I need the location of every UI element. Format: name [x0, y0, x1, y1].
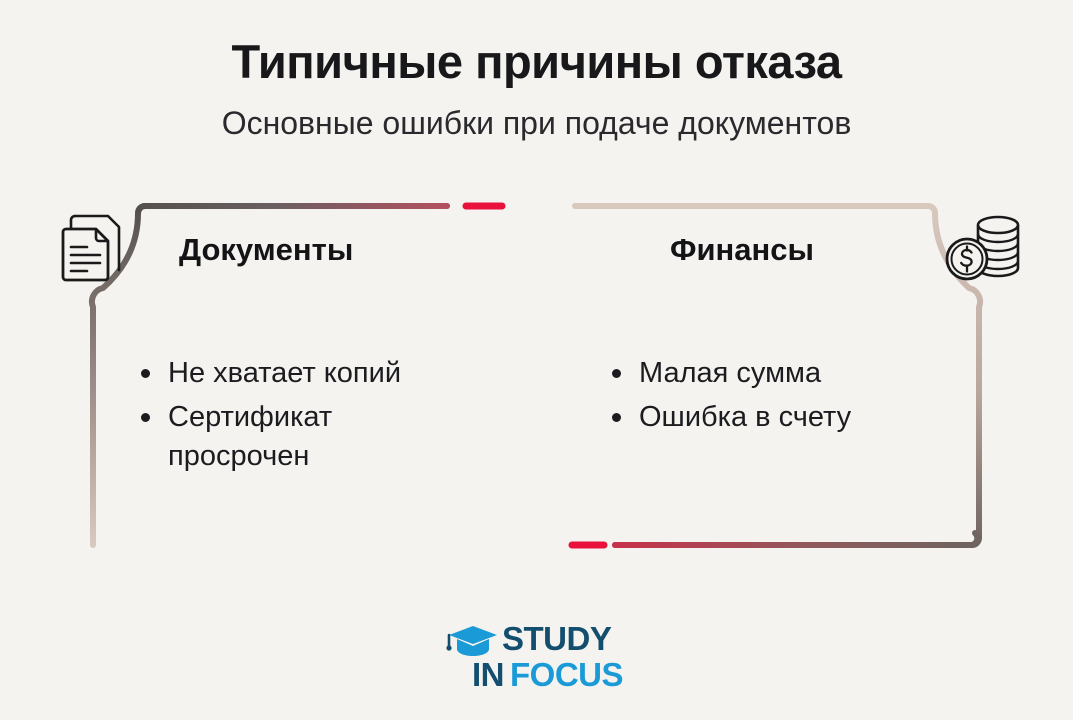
graduation-cap-icon [446, 626, 497, 656]
brand-logo: STUDY IN FOCUS [0, 616, 1073, 692]
card-finance-bullet-list: Малая сумма Ошибка в счету [610, 354, 950, 443]
card-documents: Документы Не хватает копий Сертификат пр… [93, 196, 505, 548]
page-title: Типичные причины отказа [0, 34, 1073, 89]
list-item: Малая сумма [610, 354, 950, 392]
list-item: Не хватает копий [139, 354, 469, 392]
card-finance: Финансы Малая сумма Ошибка в счету [570, 196, 982, 548]
logo-word-focus: FOCUS [510, 656, 623, 692]
card-documents-heading: Документы [179, 232, 353, 268]
logo-word-study: STUDY [502, 620, 612, 657]
logo-word-in: IN [472, 656, 504, 692]
page-subtitle: Основные ошибки при подаче документов [0, 105, 1073, 142]
card-finance-heading: Финансы [670, 232, 814, 268]
list-item: Сертификат просрочен [139, 398, 469, 475]
study-in-focus-logo: STUDY IN FOCUS [444, 616, 630, 692]
card-documents-bullet-list: Не хватает копий Сертификат просрочен [139, 354, 469, 481]
list-item: Ошибка в счету [610, 398, 950, 436]
infographic-canvas: Типичные причины отказа Основные ошибки … [0, 0, 1073, 720]
